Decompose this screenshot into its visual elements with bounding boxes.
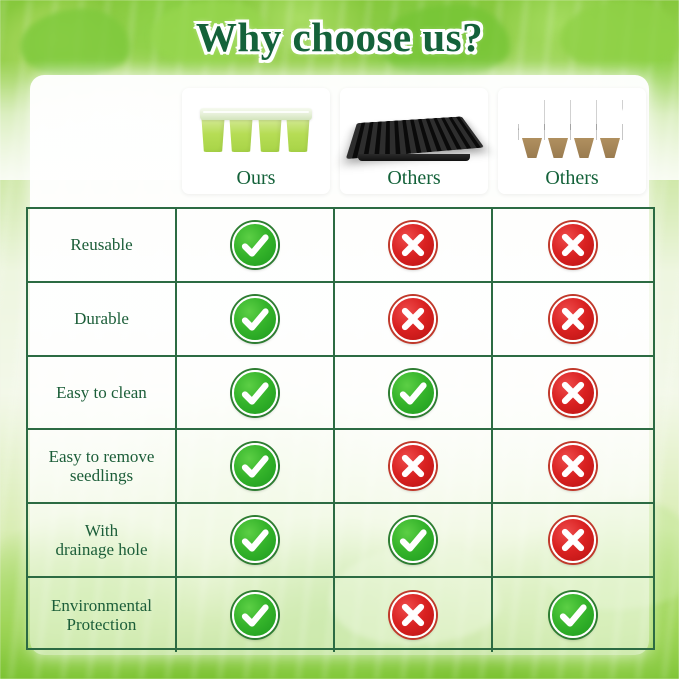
column-header-others-1: Others [340,88,488,194]
red-cross-circle-icon [550,370,596,416]
value-cell [335,357,493,429]
value-cell [493,283,653,355]
feature-label-cell: Easy to clean [28,357,177,429]
table-row: EnvironmentalProtection [28,578,653,652]
value-cell [335,504,493,576]
green-check-circle-icon [390,517,436,563]
feature-label: Durable [34,309,169,329]
comparison-table: ReusableDurableEasy to cleanEasy to remo… [26,207,655,650]
red-cross-circle-icon [550,222,596,268]
green-check-circle-icon [232,222,278,268]
red-cross-circle-icon [550,296,596,342]
value-cell [493,357,653,429]
value-cell [493,209,653,281]
value-cell [493,504,653,576]
table-row: Reusable [28,209,653,283]
value-cell [335,578,493,652]
feature-label: Easy to removeseedlings [34,447,169,486]
feature-label-cell: EnvironmentalProtection [28,578,177,652]
value-cell [493,430,653,502]
feature-label-cell: Withdrainage hole [28,504,177,576]
red-cross-circle-icon [390,222,436,268]
feature-label: Withdrainage hole [34,521,169,560]
green-check-circle-icon [232,443,278,489]
value-cell [177,430,335,502]
table-row: Durable [28,283,653,357]
feature-label: EnvironmentalProtection [34,596,169,635]
red-cross-circle-icon [390,592,436,638]
value-cell [335,283,493,355]
column-label-others-1: Others [340,167,488,190]
value-cell [177,283,335,355]
value-cell [493,578,653,652]
value-cell [177,357,335,429]
green-check-circle-icon [232,296,278,342]
column-header-others-2: Others [498,88,646,194]
green-check-circle-icon [550,592,596,638]
comparison-infographic: Why choose us? Ours Others [0,0,679,679]
feature-label-cell: Durable [28,283,177,355]
green-check-circle-icon [232,370,278,416]
column-label-others-2: Others [498,167,646,190]
table-row: Easy to clean [28,357,653,431]
red-cross-circle-icon [390,443,436,489]
page-title: Why choose us? [0,13,679,61]
column-header-ours: Ours [182,88,330,194]
feature-label: Reusable [34,235,169,255]
feature-label: Easy to clean [34,383,169,403]
green-check-circle-icon [232,517,278,563]
red-cross-circle-icon [390,296,436,342]
value-cell [177,209,335,281]
table-row: Easy to removeseedlings [28,430,653,504]
column-header-row: Ours Others Others [0,88,679,196]
value-cell [177,504,335,576]
feature-label-cell: Reusable [28,209,177,281]
product-image-ours [182,92,330,158]
red-cross-circle-icon [550,443,596,489]
green-seedling-cups-tray-icon [200,102,312,154]
brown-peat-pot-tray-icon [518,100,626,158]
value-cell [335,209,493,281]
green-check-circle-icon [232,592,278,638]
red-cross-circle-icon [550,517,596,563]
green-check-circle-icon [390,370,436,416]
black-plug-tray-edge [358,154,470,161]
table-row: Withdrainage hole [28,504,653,578]
value-cell [335,430,493,502]
product-image-peat-tray [498,92,646,158]
column-label-ours: Ours [182,167,330,190]
feature-label-cell: Easy to removeseedlings [28,430,177,502]
product-image-black-tray [340,92,488,158]
value-cell [177,578,335,652]
black-plug-tray-icon [346,116,484,159]
